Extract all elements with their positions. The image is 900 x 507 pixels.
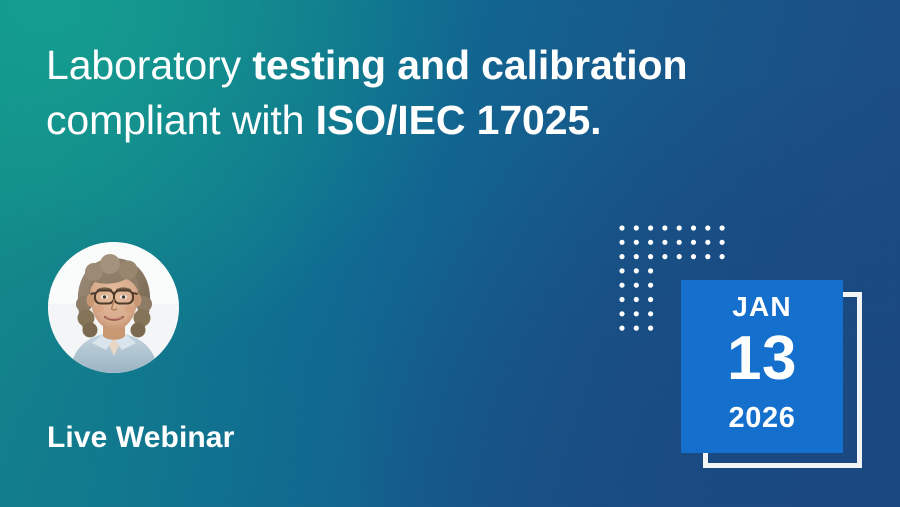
webinar-caption: Live Webinar <box>47 421 234 455</box>
headline-line-2-regular: compliant with <box>46 97 316 143</box>
date-month: JAN <box>681 291 843 323</box>
avatar <box>48 242 179 373</box>
headline-line-1-bold: testing and calibration <box>252 42 687 88</box>
headline-line-2: compliant with ISO/IEC 17025. <box>46 93 806 148</box>
date-day: 13 <box>681 328 843 390</box>
date-year: 2026 <box>681 402 843 435</box>
headline-line-2-bold: ISO/IEC 17025. <box>316 97 602 143</box>
headline-line-1: Laboratory testing and calibration <box>46 38 806 93</box>
date-card: JAN 13 2026 <box>681 280 843 453</box>
headline-line-1-regular: Laboratory <box>46 42 252 88</box>
webinar-banner: Laboratory testing and calibration compl… <box>0 0 900 507</box>
avatar-photo <box>48 242 179 373</box>
headline: Laboratory testing and calibration compl… <box>46 38 806 148</box>
